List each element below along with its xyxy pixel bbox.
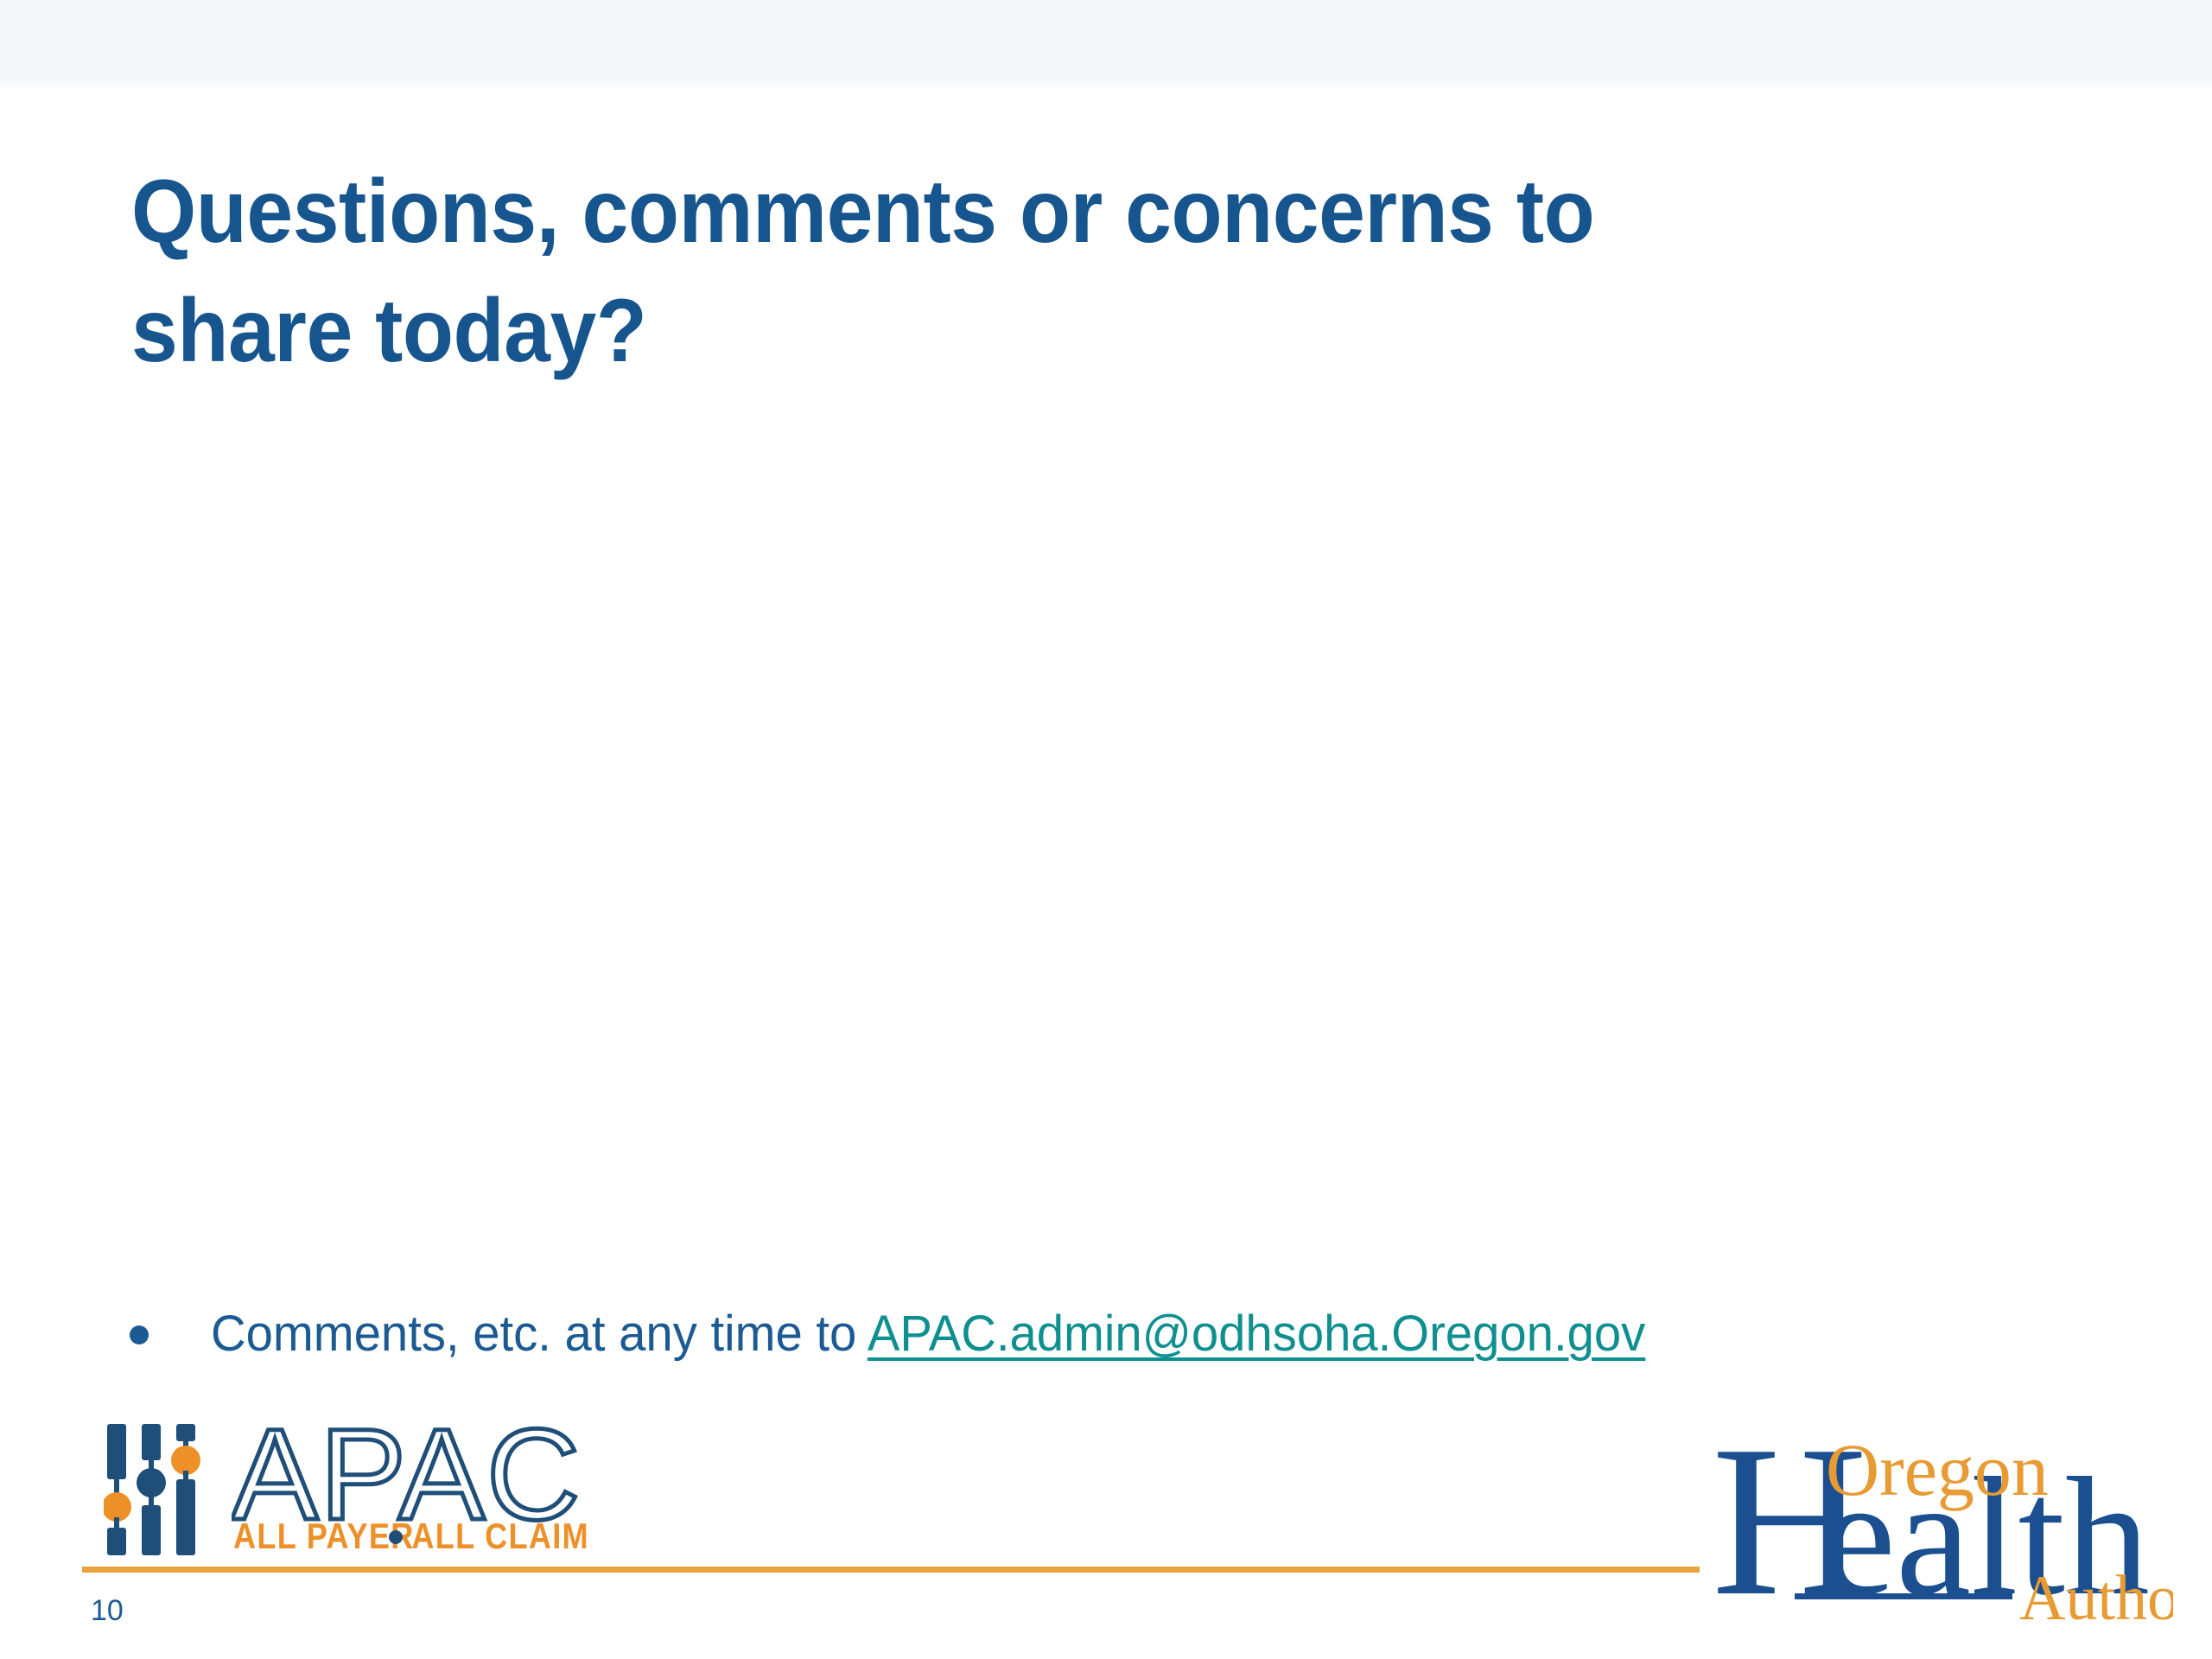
slide-title: Questions, comments or concerns to share… <box>131 152 1899 391</box>
bullet-text: Comments, etc. at any time to APAC.admin… <box>211 1303 1645 1365</box>
apac-logo: APAC ALL PAYER ALL CLAIMS <box>104 1424 588 1562</box>
oha-baseline-rule <box>1795 1593 2012 1599</box>
apac-tagline-right: ALL CLAIMS <box>411 1517 588 1557</box>
bullet-list-item: Comments, etc. at any time to APAC.admin… <box>130 1303 2117 1372</box>
apac-tagline: ALL PAYER ALL CLAIMS <box>233 1514 588 1559</box>
email-link[interactable]: APAC.admin@odhsoha.Oregon.gov <box>868 1306 1645 1362</box>
footer-divider <box>82 1567 1700 1573</box>
oregon-health-authority-logo: H ealth Oregon Authority <box>1715 1424 2173 1645</box>
top-band-edge <box>0 83 2212 88</box>
slide-canvas: Questions, comments or concerns to share… <box>0 0 2212 1659</box>
bullet-lead-text: Comments, etc. at any time to <box>211 1306 868 1362</box>
top-grey-band <box>0 0 2212 83</box>
bullet-marker-icon <box>130 1325 149 1344</box>
oha-authority: Authority <box>2019 1563 2173 1634</box>
apac-tagline-dot-icon <box>389 1530 403 1544</box>
apac-tagline-left: ALL PAYER <box>233 1517 415 1557</box>
page-number: 10 <box>91 1594 124 1628</box>
oha-oregon: Oregon <box>1826 1428 2049 1511</box>
apac-slider-icon <box>104 1424 204 1555</box>
